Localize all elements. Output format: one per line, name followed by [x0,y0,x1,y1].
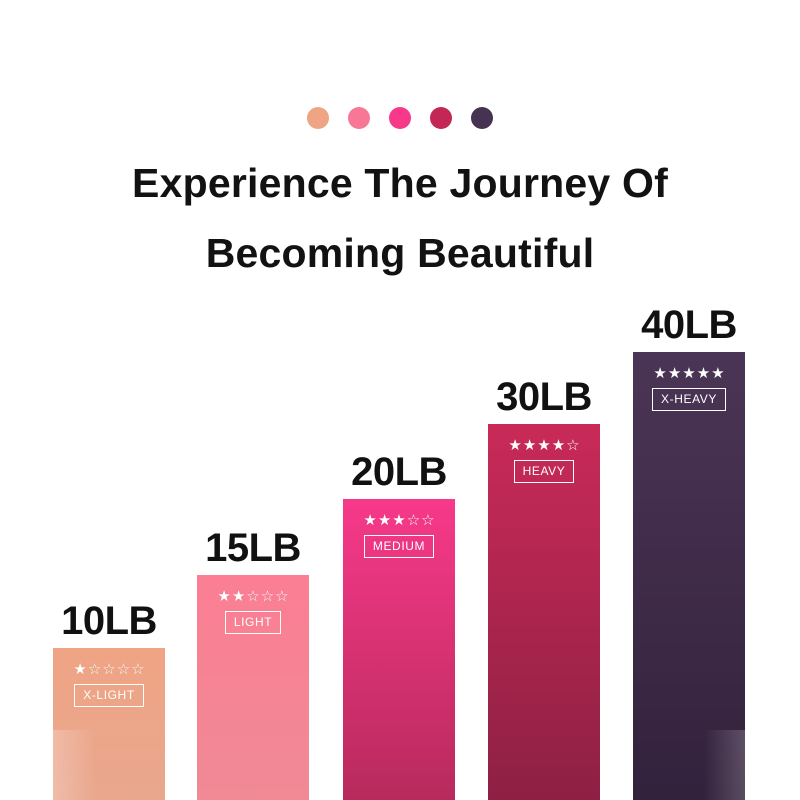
star-filled-icon: ★ [73,662,86,677]
star-filled-icon: ★ [217,589,230,604]
bar-value-label: 40LB [641,303,737,348]
star-empty-icon: ☆ [407,513,420,528]
resistance-level-tag: MEDIUM [364,535,434,558]
resistance-level-tag: HEAVY [514,460,575,483]
resistance-level-tag: X-HEAVY [652,388,726,411]
bar-content: ★☆☆☆☆X-LIGHT [53,662,165,707]
star-empty-icon: ☆ [275,589,288,604]
bar-group[interactable]: 15LB★★☆☆☆LIGHT [197,575,309,800]
bar-body[interactable]: ★★★★★X-HEAVY [633,352,745,800]
star-filled-icon: ★ [552,438,565,453]
star-empty-icon: ☆ [421,513,434,528]
bar-body[interactable]: ★★☆☆☆LIGHT [197,575,309,800]
bar-content: ★★☆☆☆LIGHT [197,589,309,634]
star-rating: ★★★☆☆ [363,513,434,528]
bar-content: ★★★☆☆MEDIUM [343,513,455,558]
bar-body[interactable]: ★★★☆☆MEDIUM [343,499,455,800]
star-filled-icon: ★ [523,438,536,453]
star-filled-icon: ★ [697,366,710,381]
bar-value-label: 15LB [205,526,301,571]
star-filled-icon: ★ [392,513,405,528]
star-filled-icon: ★ [711,366,724,381]
star-filled-icon: ★ [653,366,666,381]
star-rating: ★☆☆☆☆ [73,662,144,677]
star-empty-icon: ☆ [131,662,144,677]
star-filled-icon: ★ [232,589,245,604]
bar-group[interactable]: 30LB★★★★☆HEAVY [488,424,600,800]
bar-value-label: 30LB [496,375,592,420]
bar-group[interactable]: 10LB★☆☆☆☆X-LIGHT [53,648,165,800]
star-filled-icon: ★ [682,366,695,381]
resistance-bar-chart: 10LB★☆☆☆☆X-LIGHT15LB★★☆☆☆LIGHT20LB★★★☆☆M… [0,0,800,800]
star-empty-icon: ☆ [566,438,579,453]
bar-value-label: 10LB [61,599,157,644]
product-infographic: Experience The Journey Of Becoming Beaut… [0,0,800,800]
star-empty-icon: ☆ [117,662,130,677]
bar-body[interactable]: ★☆☆☆☆X-LIGHT [53,648,165,800]
star-filled-icon: ★ [508,438,521,453]
star-filled-icon: ★ [668,366,681,381]
bar-body[interactable]: ★★★★☆HEAVY [488,424,600,800]
bar-value-label: 20LB [351,450,447,495]
bar-group[interactable]: 40LB★★★★★X-HEAVY [633,352,745,800]
star-rating: ★★★★☆ [508,438,579,453]
star-empty-icon: ☆ [261,589,274,604]
star-empty-icon: ☆ [246,589,259,604]
bar-content: ★★★★★X-HEAVY [633,366,745,411]
resistance-level-tag: X-LIGHT [74,684,144,707]
star-empty-icon: ☆ [102,662,115,677]
star-filled-icon: ★ [537,438,550,453]
bar-group[interactable]: 20LB★★★☆☆MEDIUM [343,499,455,800]
resistance-level-tag: LIGHT [225,611,281,634]
star-empty-icon: ☆ [88,662,101,677]
star-rating: ★★★★★ [653,366,724,381]
bar-content: ★★★★☆HEAVY [488,438,600,483]
star-filled-icon: ★ [378,513,391,528]
star-filled-icon: ★ [363,513,376,528]
star-rating: ★★☆☆☆ [217,589,288,604]
